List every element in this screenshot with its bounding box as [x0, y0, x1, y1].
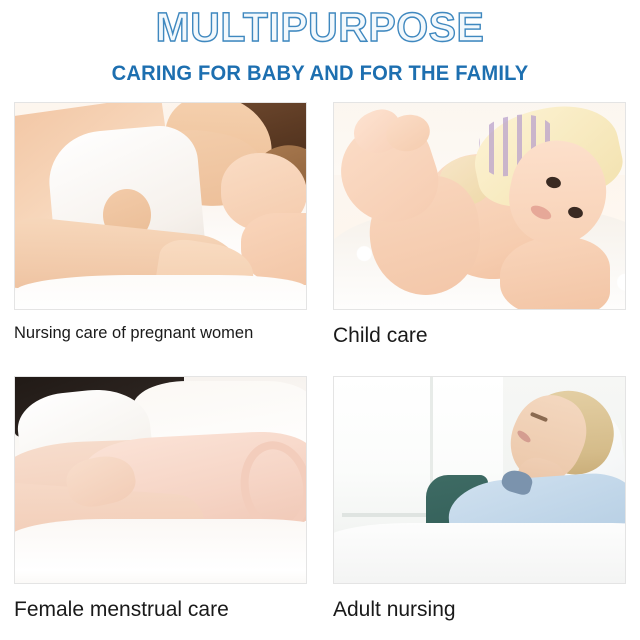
photo-pregnant-nursing	[14, 102, 307, 310]
bed-sheet	[15, 275, 306, 310]
bed-blanket	[333, 523, 626, 584]
page-subtitle: CARING FOR BABY AND FOR THE FAMILY	[13, 61, 627, 87]
feature-card-child-care: Child care	[333, 102, 626, 347]
caption-female-menstrual-care: Female menstrual care	[14, 598, 307, 621]
photo-child-care	[333, 102, 626, 310]
bed-sheet	[14, 519, 307, 584]
page-title: MULTIPURPOSE	[0, 4, 640, 50]
feature-card-adult-nursing: Adult nursing	[333, 376, 626, 621]
feature-card-pregnant-nursing: Nursing care of pregnant women	[14, 102, 307, 343]
promo-page: MULTIPURPOSE CARING FOR BABY AND FOR THE…	[0, 0, 640, 640]
photo-adult-nursing	[333, 376, 626, 584]
baby-shoulder	[500, 237, 610, 310]
caption-child-care: Child care	[333, 324, 626, 347]
caption-adult-nursing: Adult nursing	[333, 598, 626, 621]
feature-grid: Nursing care of pregnant women	[0, 102, 640, 640]
photo-female-menstrual-care	[14, 376, 307, 584]
caption-pregnant-nursing: Nursing care of pregnant women	[14, 324, 298, 343]
feature-card-female-menstrual-care: Female menstrual care	[14, 376, 307, 621]
